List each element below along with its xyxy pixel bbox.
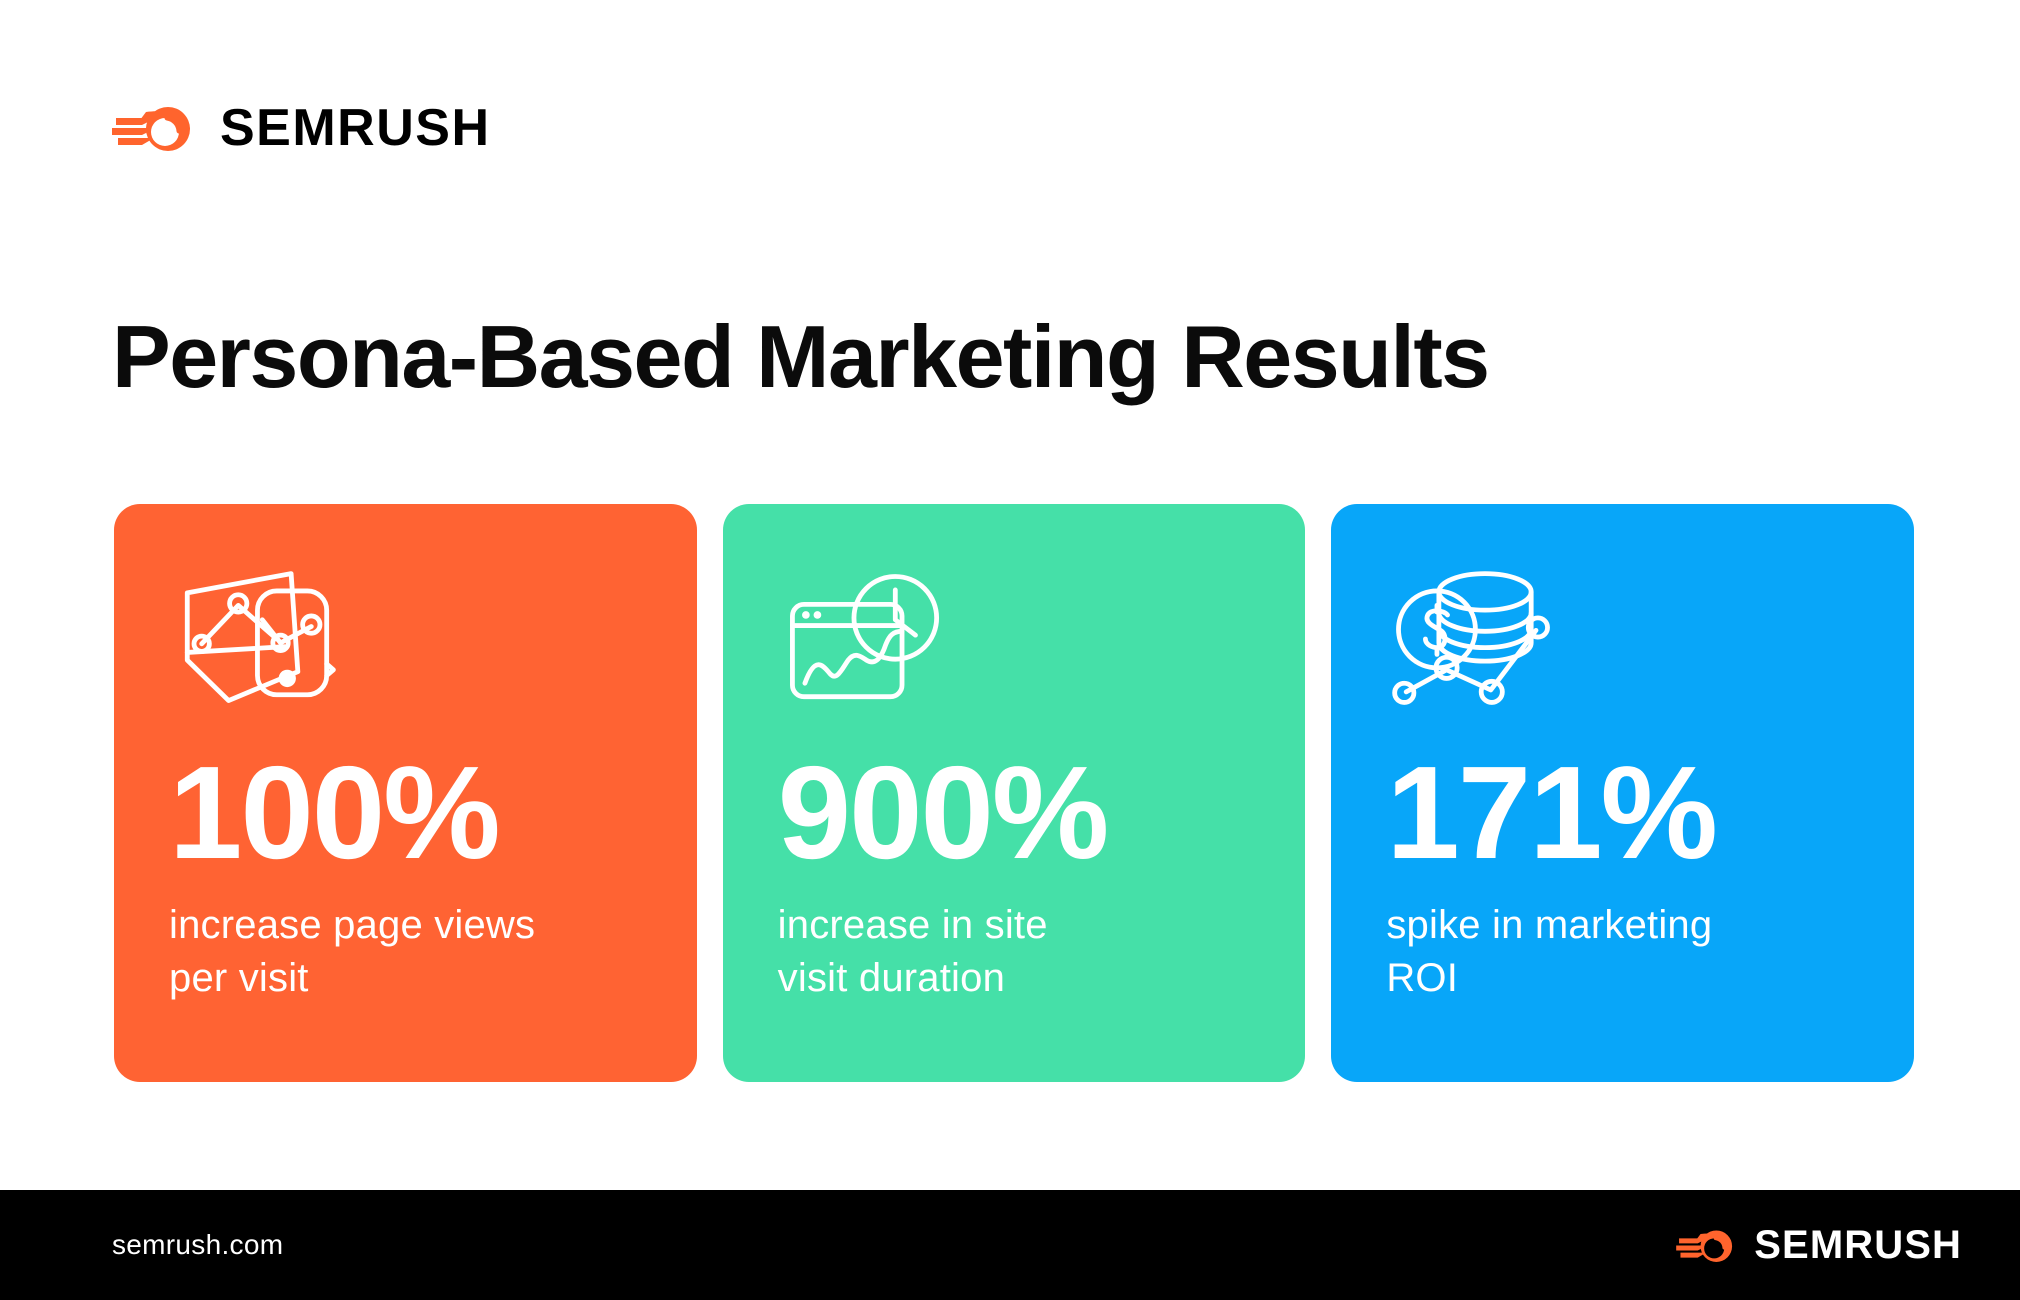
document-chart-mobile-icon bbox=[169, 564, 642, 714]
stat-caption: increase in site visit duration bbox=[778, 899, 1251, 1005]
stat-caption: spike in marketing ROI bbox=[1386, 899, 1859, 1005]
stat-value: 171% bbox=[1386, 748, 1859, 877]
stat-cards-row: 100% increase page views per visit bbox=[114, 504, 1914, 1082]
stat-card-page-views[interactable]: 100% increase page views per visit bbox=[114, 504, 697, 1082]
semrush-comet-icon bbox=[112, 98, 198, 158]
brand-logo[interactable]: SEMRUSH bbox=[112, 98, 491, 158]
page-title: Persona-Based Marketing Results bbox=[112, 309, 1489, 406]
stat-card-visit-duration[interactable]: 900% increase in site visit duration bbox=[723, 504, 1306, 1082]
semrush-comet-icon bbox=[1676, 1224, 1738, 1267]
stat-caption: increase page views per visit bbox=[169, 899, 642, 1005]
stat-card-marketing-roi[interactable]: 171% spike in marketing ROI bbox=[1331, 504, 1914, 1082]
coins-dollar-chart-icon bbox=[1386, 564, 1859, 714]
browser-chart-clock-icon bbox=[778, 564, 1251, 714]
stat-value: 900% bbox=[778, 748, 1251, 877]
brand-wordmark: SEMRUSH bbox=[220, 102, 491, 154]
footer-wordmark: SEMRUSH bbox=[1754, 1225, 1962, 1265]
footer-bar: semrush.com SEMRUSH bbox=[0, 1190, 2020, 1300]
footer-url[interactable]: semrush.com bbox=[112, 1229, 283, 1261]
stat-value: 100% bbox=[169, 748, 642, 877]
footer-logo[interactable]: SEMRUSH bbox=[1676, 1224, 1962, 1267]
